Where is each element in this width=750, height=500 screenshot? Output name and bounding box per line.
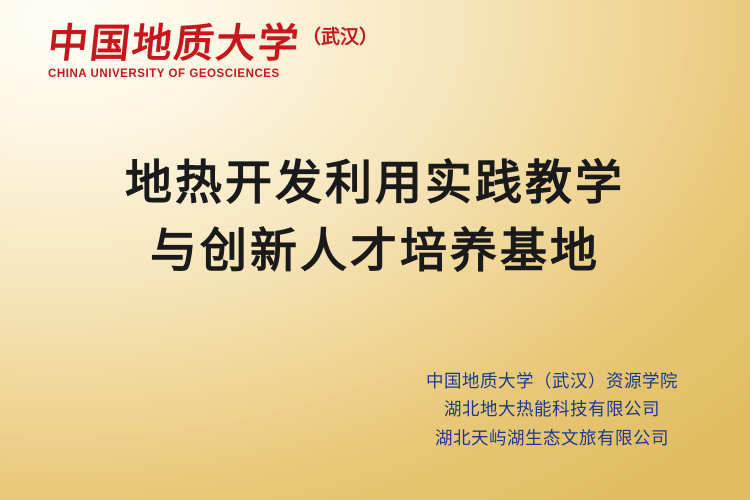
logo-english-text: CHINA UNIVERSITY OF GEOSCIENCES (48, 68, 378, 80)
logo-campus-suffix: （武汉） (302, 22, 378, 49)
page-title: 地热开发利用实践教学 与创新人才培养基地 (0, 150, 750, 286)
title-slide: 中国地质大学（武汉） CHINA UNIVERSITY OF GEOSCIENC… (0, 0, 750, 500)
affiliation-line-3: 湖北天屿湖生态文旅有限公司 (426, 425, 678, 453)
title-line-2: 与创新人才培养基地 (0, 218, 750, 286)
affiliation-line-2: 湖北地大热能科技有限公司 (426, 396, 678, 424)
title-line-1: 地热开发利用实践教学 (0, 150, 750, 218)
logo-chinese-text: 中国地质大学 (46, 23, 302, 65)
university-logo: 中国地质大学（武汉） CHINA UNIVERSITY OF GEOSCIENC… (48, 22, 378, 80)
affiliation-list: 中国地质大学（武汉）资源学院 湖北地大热能科技有限公司 湖北天屿湖生态文旅有限公… (426, 368, 678, 453)
affiliation-line-1: 中国地质大学（武汉）资源学院 (426, 368, 678, 396)
logo-chinese-name: 中国地质大学（武汉） (48, 44, 378, 61)
